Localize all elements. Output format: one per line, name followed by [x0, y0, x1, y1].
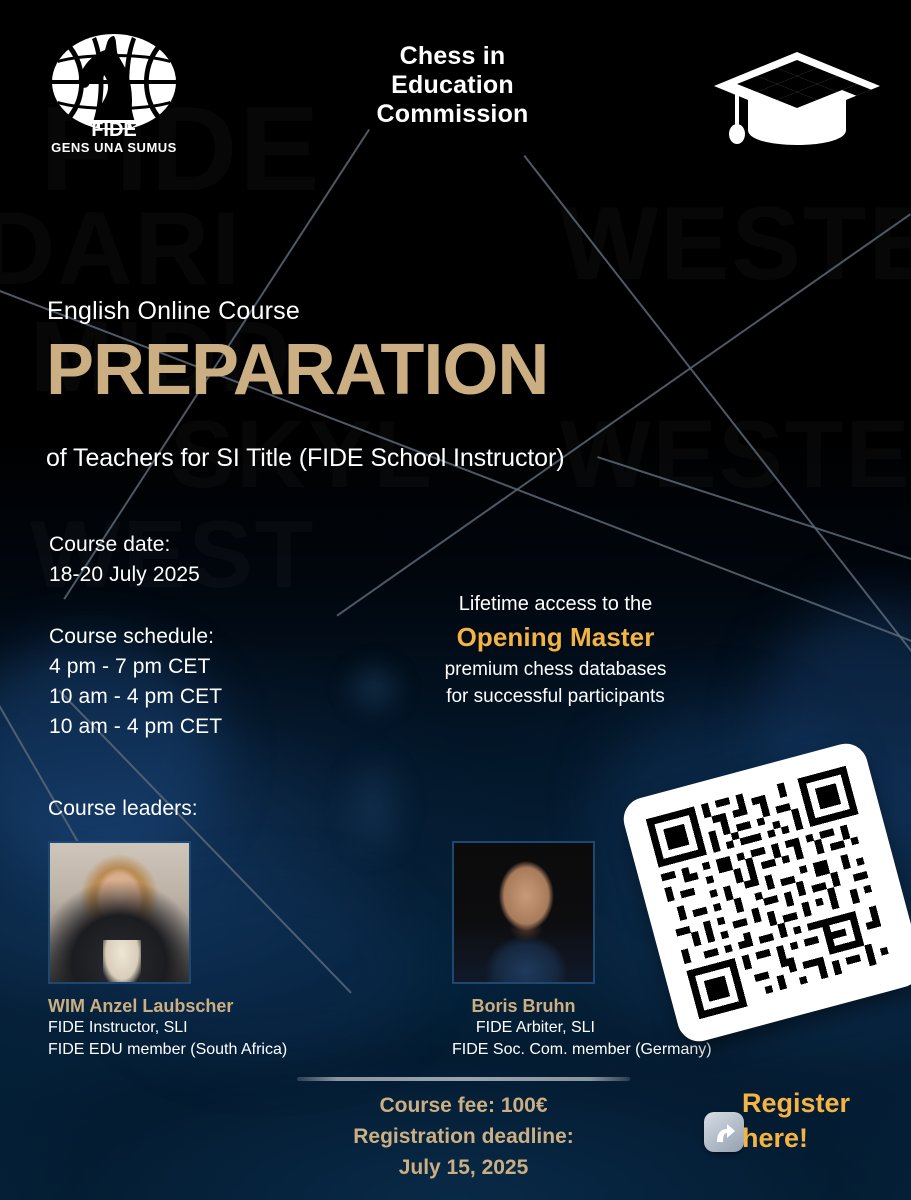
course-fee: Course fee: 100€	[297, 1090, 630, 1121]
course-info-block: Course date: 18-20 July 2025 Course sche…	[49, 530, 222, 742]
opening-master-intro: Lifetime access to the	[398, 590, 713, 618]
leader-photo-anzel-laubscher	[48, 841, 191, 984]
page-subtitle: of Teachers for SI Title (FIDE School In…	[46, 444, 564, 473]
register-line-2: here!	[742, 1121, 850, 1156]
opening-master-panel: Lifetime access to the Opening Master pr…	[398, 590, 713, 710]
leader-card: Boris Bruhn FIDE Arbiter, SLI FIDE Soc. …	[452, 841, 595, 1061]
leader-role: FIDE Arbiter, SLI	[452, 1017, 595, 1039]
course-leaders-label: Course leaders:	[48, 797, 198, 821]
register-line-1: Register	[742, 1086, 850, 1121]
registration-deadline-label: Registration deadline:	[297, 1121, 630, 1152]
opening-master-brand: Opening Master	[398, 618, 713, 656]
leader-org: FIDE Soc. Com. member (Germany)	[452, 1039, 595, 1061]
schedule-row: 10 am - 4 pm CET	[49, 682, 222, 712]
course-date-label: Course date:	[49, 530, 222, 560]
course-schedule-label: Course schedule:	[49, 622, 222, 652]
page-title: PREPARATION	[46, 334, 548, 406]
fide-logo-text: FIDE	[91, 119, 137, 141]
leader-role: FIDE Instructor, SLI	[48, 1017, 191, 1039]
leader-photo-boris-bruhn	[452, 841, 595, 984]
schedule-row: 10 am - 4 pm CET	[49, 712, 222, 742]
leader-name: WIM Anzel Laubscher	[48, 995, 191, 1017]
course-date-value: 18-20 July 2025	[49, 560, 222, 590]
eyebrow-text: English Online Course	[47, 297, 300, 326]
qr-code-matrix	[646, 766, 900, 1020]
leader-name: Boris Bruhn	[452, 995, 595, 1017]
register-here-cta[interactable]: Register here!	[742, 1086, 850, 1156]
fide-motto-text: GENS UNA SUMUS	[51, 140, 177, 154]
footer-divider	[297, 1077, 630, 1081]
leader-org: FIDE EDU member (South Africa)	[48, 1039, 191, 1061]
watermark-text: WESTE	[560, 185, 911, 304]
leader-meta: WIM Anzel Laubscher FIDE Instructor, SLI…	[48, 995, 191, 1061]
spacer	[49, 590, 222, 622]
opening-master-desc-2: for successful participants	[398, 683, 713, 710]
poster-canvas: FIDE DARI WESTE MIDD SKYL WESTER WEST	[0, 0, 911, 1200]
schedule-row: 4 pm - 7 pm CET	[49, 652, 222, 682]
leader-card: WIM Anzel Laubscher FIDE Instructor, SLI…	[48, 841, 191, 1061]
graduation-cap-chessboard-icon	[712, 44, 882, 148]
footer-fee-block: Course fee: 100€ Registration deadline: …	[297, 1090, 630, 1183]
fide-globe-icon	[52, 34, 176, 130]
commission-title: Chess in Education Commission	[350, 42, 555, 129]
poster-header: FIDE GENS UNA SUMUS Chess in Education C…	[0, 0, 911, 170]
opening-master-desc-1: premium chess databases	[398, 656, 713, 683]
fide-logo: FIDE GENS UNA SUMUS	[38, 26, 190, 154]
curved-up-arrow-icon[interactable]	[704, 1112, 744, 1152]
leader-meta: Boris Bruhn FIDE Arbiter, SLI FIDE Soc. …	[452, 995, 595, 1061]
registration-deadline-date: July 15, 2025	[297, 1152, 630, 1183]
fide-wordmark: FIDE	[82, 119, 146, 141]
watermark-text: WESTER	[560, 400, 911, 510]
watermark-text: DARI	[0, 190, 242, 309]
